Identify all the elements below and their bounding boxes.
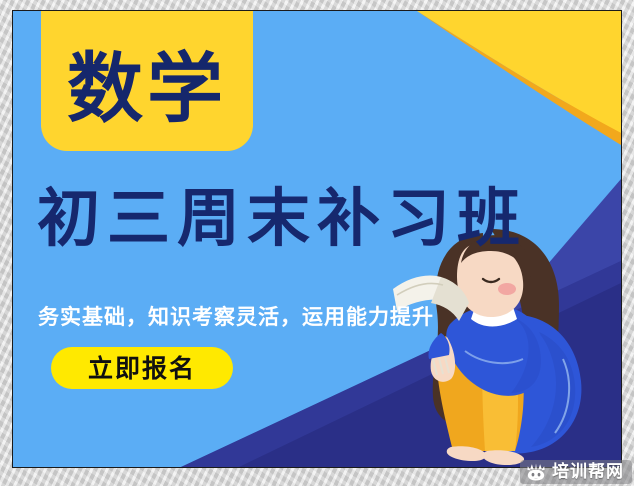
enroll-now-button[interactable]: 立即报名 xyxy=(51,347,233,389)
girl-reading-book-illustration xyxy=(387,219,621,467)
watermark-label: 培训帮网 xyxy=(552,464,624,481)
cheek-blush xyxy=(498,283,516,295)
enroll-now-button-label: 立即报名 xyxy=(88,356,196,381)
subject-badge: 数学 xyxy=(41,11,253,151)
screenshot-frame: 数学 xyxy=(0,0,634,486)
subtitle-text: 务实基础，知识考察灵活，运用能力提升 xyxy=(38,307,434,328)
subject-badge-label: 数学 xyxy=(67,51,227,127)
poster-canvas: 数学 xyxy=(13,11,621,467)
sun-face-icon xyxy=(526,463,546,481)
watermark: 培训帮网 xyxy=(520,460,632,484)
illustration-svg xyxy=(387,219,621,467)
course-promo-poster: 数学 xyxy=(12,10,622,468)
page-title: 初三周末补习班 xyxy=(37,187,527,250)
